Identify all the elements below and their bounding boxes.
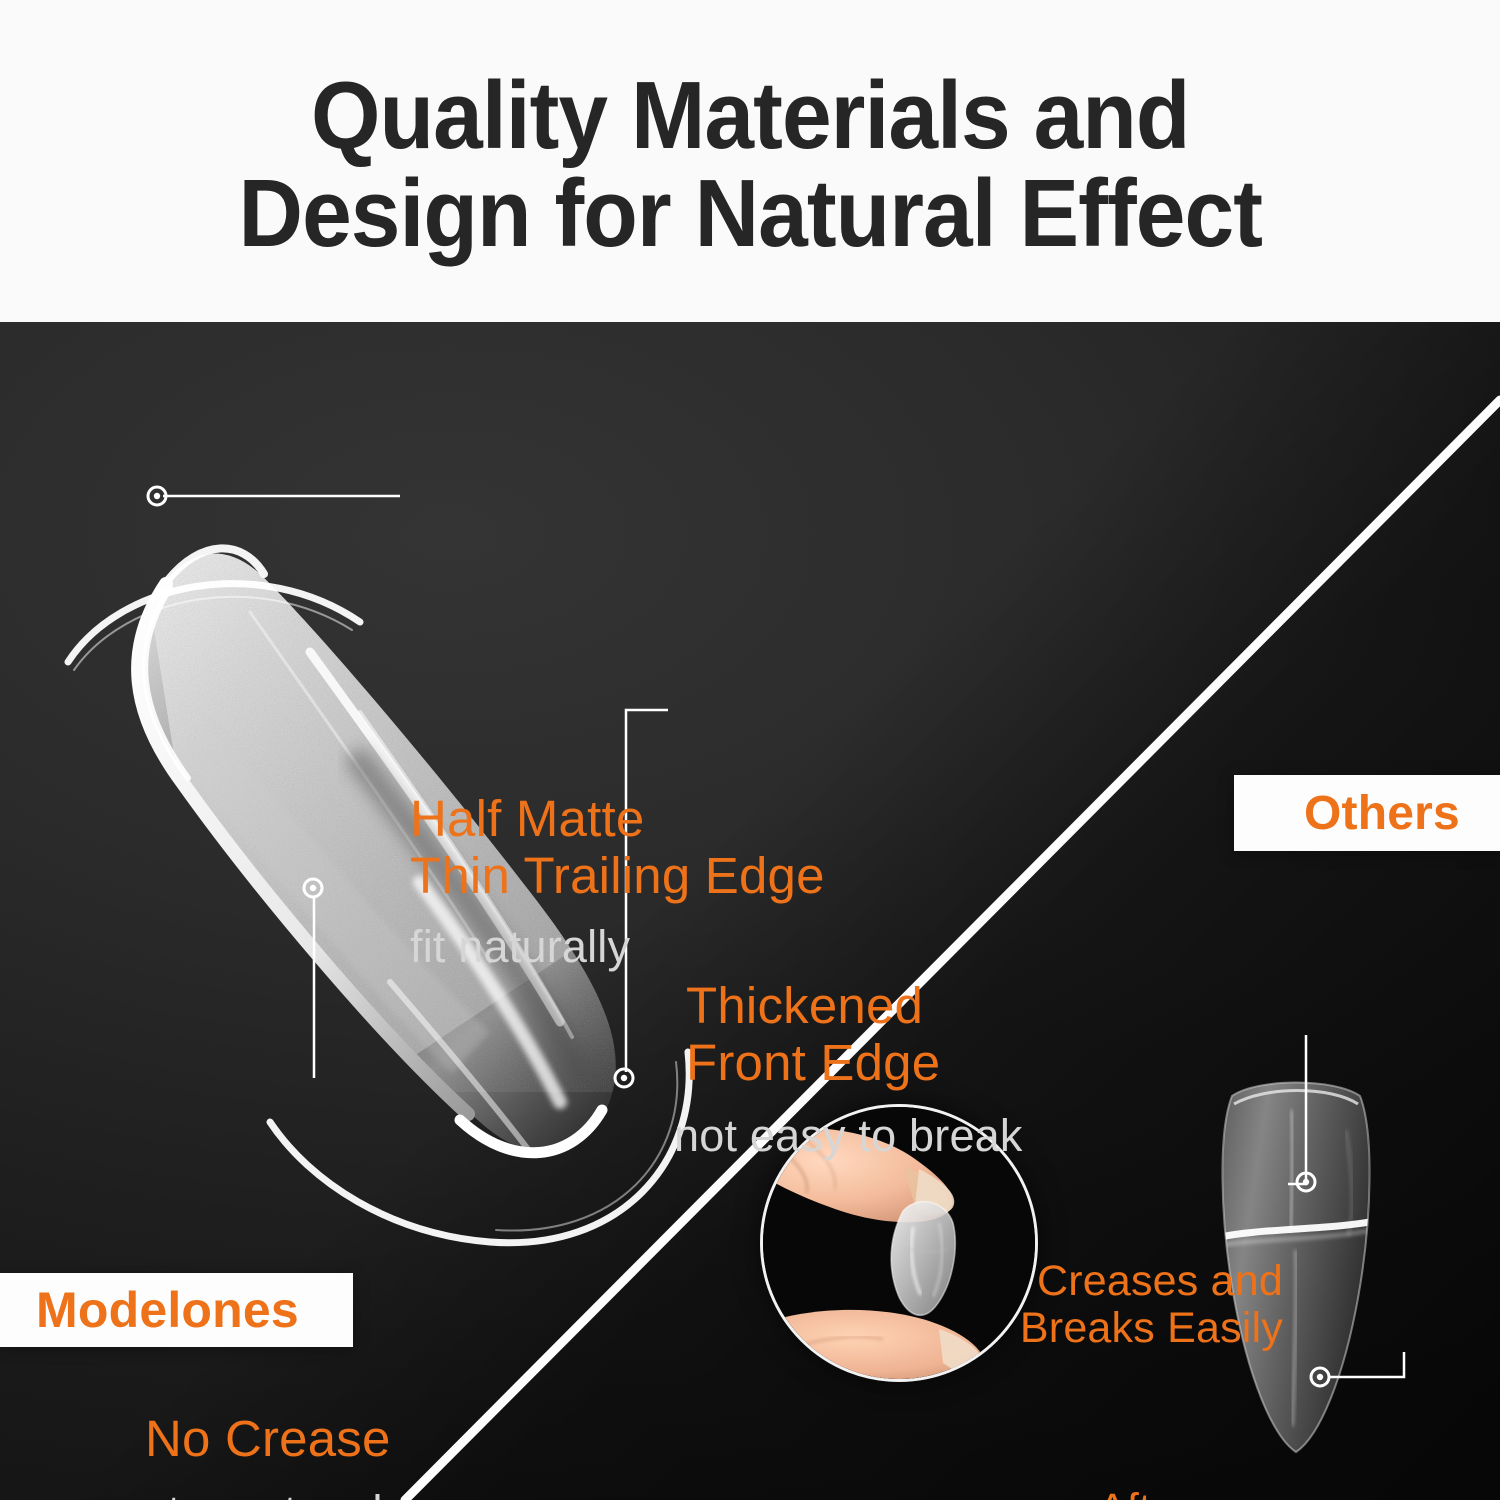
infographic-page: Quality Materials and Design for Natural… <box>0 0 1500 1500</box>
brand-badge-modelones: Modelones <box>0 1273 353 1347</box>
annotation-no-crease-headline: No Crease <box>145 1410 493 1467</box>
annotation-after-bend-headline: After Bend <box>1098 1485 1199 1500</box>
annotation-half-matte-subtext: fit naturally <box>410 920 825 974</box>
annotation-creases-breaks: Creases and Breaks Easily <box>1005 1258 1283 1353</box>
annotation-creases-breaks-headline: Creases and Breaks Easily <box>1005 1258 1283 1353</box>
annotation-after-bend: After Bend <box>1098 1485 1199 1500</box>
annotation-thickened-front-edge: Thickened Front Edge not easy to break <box>686 977 1023 1163</box>
annotation-no-crease-subtext: strong toughness <box>145 1485 493 1500</box>
comparison-stage: Half Matte Thin Trailing Edge fit natura… <box>0 322 1500 1500</box>
header-band: Quality Materials and Design for Natural… <box>0 0 1500 322</box>
page-title: Quality Materials and Design for Natural… <box>238 59 1261 263</box>
annotation-half-matte: Half Matte Thin Trailing Edge fit natura… <box>410 790 825 974</box>
annotation-thickened-front-edge-subtext: not easy to break <box>674 1109 1023 1163</box>
annotation-half-matte-headline: Half Matte Thin Trailing Edge <box>410 790 825 904</box>
brand-badge-others-label: Others <box>1304 786 1460 841</box>
annotation-no-crease: No Crease strong toughness <box>145 1410 493 1500</box>
brand-badge-others: Others <box>1234 775 1500 851</box>
brand-badge-modelones-label: Modelones <box>36 1281 299 1339</box>
annotation-thickened-front-edge-headline: Thickened Front Edge <box>686 977 1023 1091</box>
